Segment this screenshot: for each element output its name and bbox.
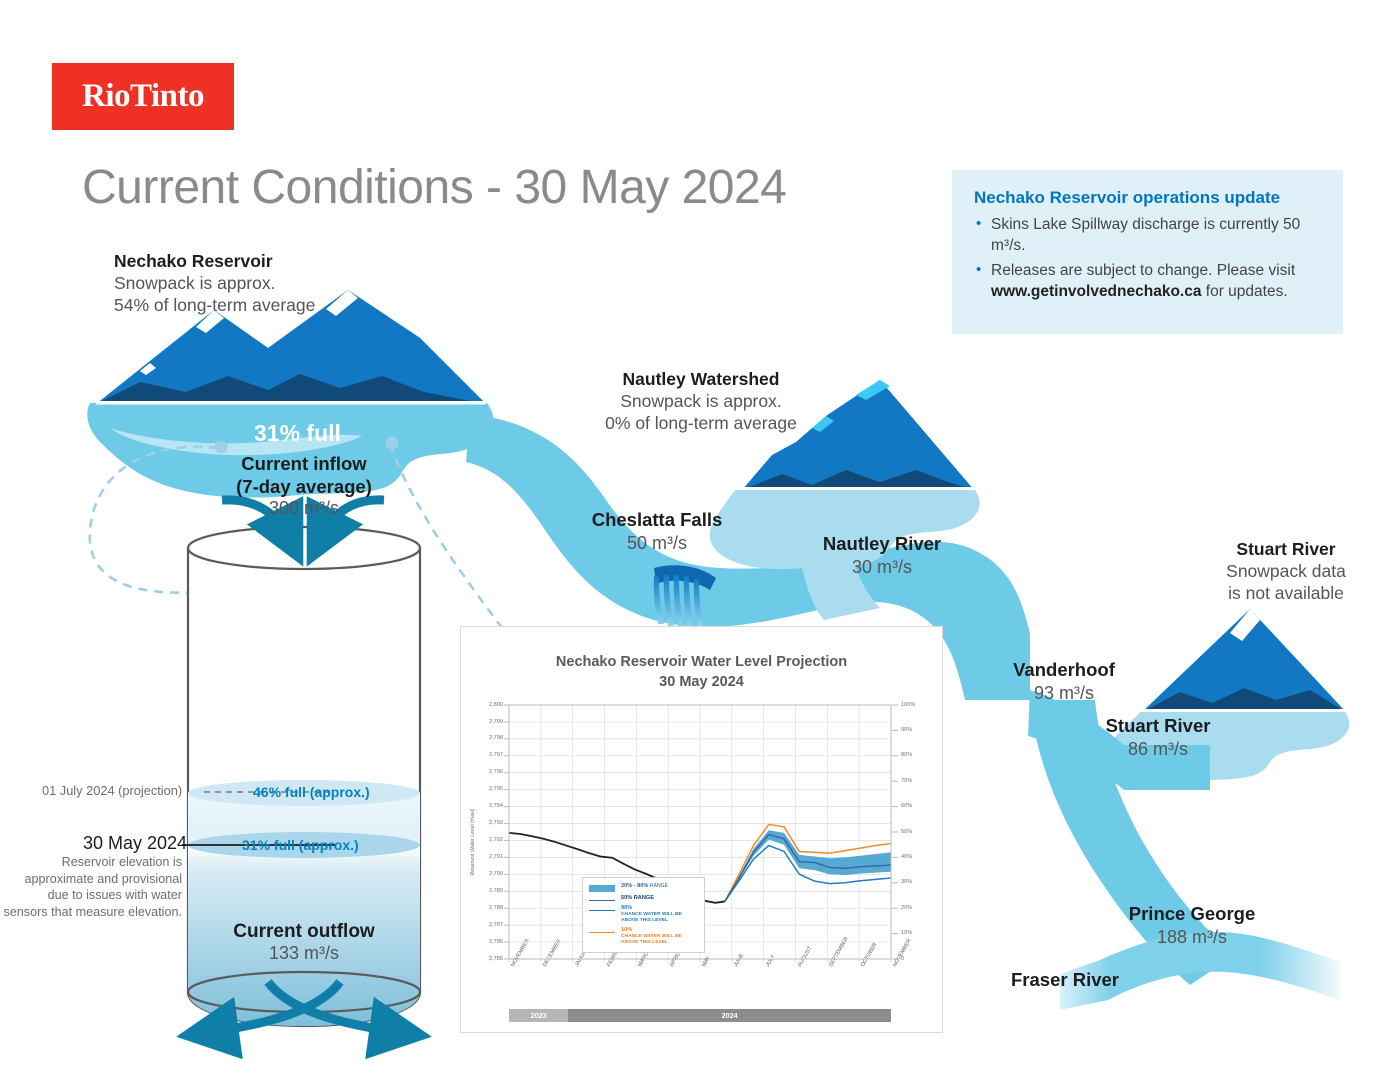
flow-cheslatta-value: 50 m³/s: [562, 532, 752, 555]
flow-label-cheslatta-falls: Cheslatta Falls 50 m³/s: [562, 508, 752, 555]
operations-bullet-1-text: Skins Lake Spillway discharge is current…: [991, 216, 1300, 254]
operations-bullet-2: Releases are subject to change. Please v…: [974, 261, 1323, 302]
logo-text: RioTinto: [82, 80, 204, 113]
legend-item-band: 20% - 80% RANGE: [589, 883, 697, 892]
legend-50-main: 50%: [621, 895, 634, 901]
legend-label-90: 90%CHANCE WATER WILL BE ABOVE THIS LEVEL: [621, 905, 697, 924]
legend-swatch-50: [589, 900, 615, 901]
flow-fraser-name: Fraser River: [1000, 968, 1130, 992]
current-outflow-value: 133 m³/s: [214, 943, 394, 964]
water-level-projection-chart: Nechako Reservoir Water Level Projection…: [460, 626, 943, 1033]
rio-tinto-logo: RioTinto: [52, 63, 234, 130]
flow-prince-george-value: 188 m³/s: [1096, 926, 1288, 949]
infographic-canvas: RioTinto Current Conditions - 30 May 202…: [0, 0, 1400, 1082]
watershed-nechako-name: Nechako Reservoir: [114, 250, 315, 272]
watershed-label-stuart: Stuart River Snowpack data is not availa…: [1186, 538, 1386, 604]
current-inflow-title: Current inflow: [207, 452, 401, 475]
flow-label-vanderhoof: Vanderhoof 93 m³/s: [968, 658, 1160, 705]
flow-nautley-value: 30 m³/s: [786, 556, 978, 579]
flow-label-fraser-river: Fraser River: [1000, 968, 1130, 992]
legend-band-main: 20% - 80%: [621, 883, 650, 889]
legend-50-sub: RANGE: [634, 895, 654, 901]
chart-plot-area: Reservoir Water Level (masl) 2,8002,7992…: [461, 691, 944, 1031]
watershed-nechako-line2: 54% of long-term average: [114, 294, 315, 316]
operations-bullet-2-tail: for updates.: [1201, 283, 1287, 300]
flow-prince-george-name: Prince George: [1096, 902, 1288, 926]
flow-vanderhoof-value: 93 m³/s: [968, 682, 1160, 705]
flow-label-stuart-river: Stuart River 86 m³/s: [1062, 714, 1254, 761]
watershed-label-nechako: Nechako Reservoir Snowpack is approx. 54…: [114, 250, 315, 316]
watershed-label-nautley: Nautley Watershed Snowpack is approx. 0%…: [603, 368, 799, 434]
current-inflow-label: Current inflow (7-day average) 300 m³/s: [207, 452, 401, 519]
legend-swatch-band: [589, 885, 615, 892]
current-level-label: 31% full (approx.): [242, 837, 359, 853]
chart-title-line1: Nechako Reservoir Water Level Projection: [461, 653, 942, 672]
projection-date-label: 01 July 2024 (projection): [42, 783, 182, 798]
watershed-nautley-line1: Snowpack is approx.: [603, 390, 799, 412]
outflow-arrows: [210, 982, 398, 1032]
cheslatta-falls-icon: [654, 565, 716, 627]
watershed-stuart-name: Stuart River: [1186, 538, 1386, 560]
legend-band-sub: RANGE: [650, 883, 668, 889]
legend-label-50: 50% RANGE: [621, 895, 654, 902]
current-inflow-sub: (7-day average): [207, 475, 401, 498]
watershed-nechako-line1: Snowpack is approx.: [114, 272, 315, 294]
current-inflow-value: 300 m³/s: [207, 498, 401, 519]
legend-label-10: 10%CHANCE WATER WILL BE ABOVE THIS LEVEL: [621, 927, 697, 946]
operations-update-panel: Nechako Reservoir operations update Skin…: [952, 170, 1343, 334]
elevation-note: Reservoir elevation is approximate and p…: [2, 854, 182, 920]
flow-label-prince-george: Prince George 188 m³/s: [1096, 902, 1288, 949]
flow-label-nautley-river: Nautley River 30 m³/s: [786, 532, 978, 579]
mountain-stuart: [1142, 609, 1346, 712]
legend-10-sub: CHANCE WATER WILL BE ABOVE THIS LEVEL: [621, 934, 697, 946]
watershed-nautley-name: Nautley Watershed: [603, 368, 799, 390]
legend-10-main: 10%: [621, 927, 632, 933]
legend-item-50: 50% RANGE: [589, 895, 697, 902]
current-outflow-title: Current outflow: [214, 921, 394, 943]
operations-update-list: Skins Lake Spillway discharge is current…: [974, 215, 1323, 302]
flow-stuart-value: 86 m³/s: [1062, 738, 1254, 761]
current-outflow-label: Current outflow 133 m³/s: [214, 921, 394, 964]
page-title: Current Conditions - 30 May 2024: [82, 160, 786, 215]
watershed-stuart-line2: is not available: [1186, 582, 1386, 604]
getinvolved-link[interactable]: www.getinvolvednechako.ca: [991, 283, 1201, 300]
legend-item-10: 10%CHANCE WATER WILL BE ABOVE THIS LEVEL: [589, 927, 697, 946]
percent-full-badge: 31% full: [254, 420, 341, 447]
flow-vanderhoof-name: Vanderhoof: [968, 658, 1160, 682]
projection-level-label: 46% full (approx.): [253, 784, 370, 800]
legend-swatch-10: [589, 932, 615, 933]
chart-legend: 20% - 80% RANGE 50% RANGE 90%CHANCE WATE…: [582, 877, 705, 952]
current-date-label: 30 May 2024: [83, 833, 187, 854]
flow-stuart-name: Stuart River: [1062, 714, 1254, 738]
flow-cheslatta-name: Cheslatta Falls: [562, 508, 752, 532]
chart-svg: [461, 691, 944, 1031]
operations-update-title: Nechako Reservoir operations update: [974, 188, 1323, 208]
legend-item-90: 90%CHANCE WATER WILL BE ABOVE THIS LEVEL: [589, 905, 697, 924]
watershed-stuart-line1: Snowpack data: [1186, 560, 1386, 582]
legend-swatch-90: [589, 910, 615, 911]
watershed-nautley-line2: 0% of long-term average: [603, 412, 799, 434]
legend-90-main: 90%: [621, 905, 632, 911]
flow-nautley-name: Nautley River: [786, 532, 978, 556]
operations-bullet-1: Skins Lake Spillway discharge is current…: [974, 215, 1323, 256]
operations-bullet-2-text: Releases are subject to change. Please v…: [991, 262, 1295, 279]
legend-label-band: 20% - 80% RANGE: [621, 883, 668, 890]
legend-90-sub: CHANCE WATER WILL BE ABOVE THIS LEVEL: [621, 912, 697, 924]
chart-title-line2: 30 May 2024: [461, 673, 942, 692]
